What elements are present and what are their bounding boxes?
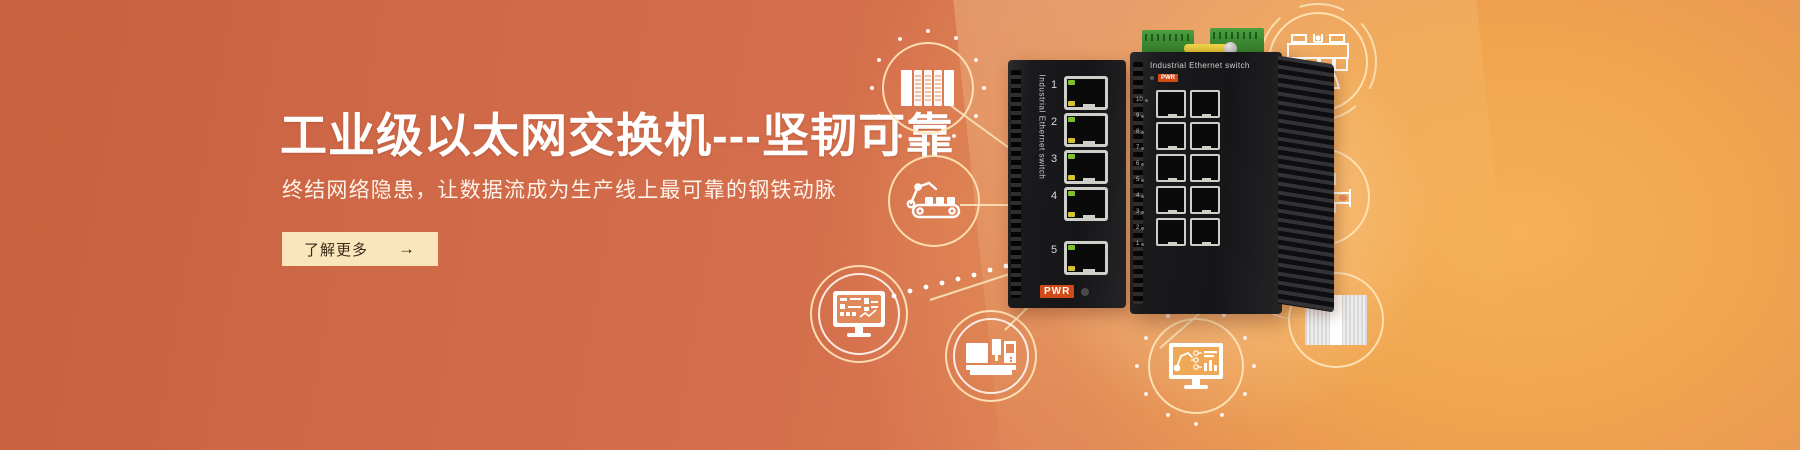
learn-more-label: 了解更多 [304,239,368,260]
switch-large-label: Industrial Ethernet switch [1150,61,1250,70]
arrow-right-icon: → [398,240,416,259]
switch-small-label: Industrial Ethernet switch [1038,75,1047,187]
switch-large-power: PWR [1150,74,1178,82]
learn-more-button[interactable]: 了解更多 → [282,232,438,266]
bubble-robot-conveyor[interactable] [888,155,980,247]
switch-large: Industrial Ethernet switch PWR 10 9 8 7 … [1130,52,1282,314]
switch-large-power-label: PWR [1158,74,1178,82]
bubble-cnc-machine[interactable] [945,310,1037,402]
bubble-hmi-monitor[interactable] [810,265,908,363]
rj45-port-1: 1 [1064,76,1108,110]
heatsink-fins [1278,56,1334,313]
power-dot-icon [1081,288,1089,296]
hero-graphic: Industrial Ethernet switch PWR 10 9 8 7 … [760,0,1800,450]
rj45-port-2: 2 [1064,113,1108,147]
hmi-monitor-icon [831,289,887,339]
pwr-badge: PWR [1040,285,1074,298]
switch-small: Industrial Ethernet switch 1 2 3 [1008,60,1126,308]
hero-subtitle: 终结网络隐患，让数据流成为生产线上最可靠的钢铁动脉 [282,174,837,204]
switch-large-ports [1156,90,1258,250]
dot-ring-decoration [868,28,988,148]
cnc-machine-icon [964,335,1018,377]
product-photo: Industrial Ethernet switch PWR 10 9 8 7 … [998,22,1458,322]
switch-small-power: PWR [1040,285,1089,298]
switch-small-ports: 1 2 3 4 5 [1048,76,1110,278]
hero-banner: 工业级以太网交换机---坚韧可靠 终结网络隐患，让数据流成为生产线上最可靠的钢铁… [0,0,1800,450]
vent-strip-small [1011,70,1021,298]
switch-large-led-labels: 10 9 8 7 6 5 4 3 2 1 [1136,92,1148,252]
rj45-port-4: 4 [1064,187,1108,221]
dot-ring-decoration-2 [1134,304,1258,428]
power-dot-icon [1150,76,1154,80]
rj45-port-3: 3 [1064,150,1108,184]
robot-conveyor-icon [905,179,963,223]
rj45-port-5: 5 [1064,241,1108,275]
